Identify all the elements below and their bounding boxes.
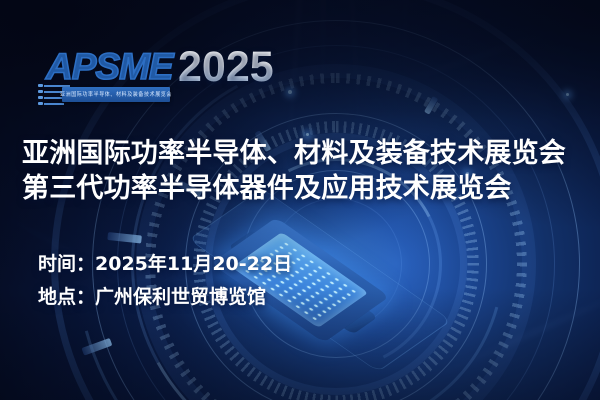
event-info-group: 时间：2025年11月20-22日 地点：广州保利世贸博览馆 <box>38 248 292 314</box>
headline-secondary: 第三代功率半导体器件及应用技术展览会 <box>22 171 582 206</box>
logo-subtitle-bar: 亚洲国际功率半导体、材料及装备技术展览会 <box>62 87 170 102</box>
logo-year: 2025 <box>178 43 274 92</box>
event-venue: 地点：广州保利世贸博览馆 <box>38 281 292 314</box>
logo-bar-text: 亚洲国际功率半导体、材料及装备技术展览会 <box>60 91 172 99</box>
exhibition-poster: APSME 亚洲国际功率半导体、材料及装备技术展览会 2025 亚洲国际功率半导… <box>0 0 600 400</box>
headline-group: 亚洲国际功率半导体、材料及装备技术展览会 第三代功率半导体器件及应用技术展览会 <box>22 136 582 206</box>
apsme-logo-icon: APSME 亚洲国际功率半导体、材料及装备技术展览会 2025 <box>38 46 288 108</box>
event-date: 时间：2025年11月20-22日 <box>38 248 292 281</box>
headline-primary: 亚洲国际功率半导体、材料及装备技术展览会 <box>22 136 582 171</box>
logo-mark: APSME 亚洲国际功率半导体、材料及装备技术展览会 <box>38 46 170 108</box>
